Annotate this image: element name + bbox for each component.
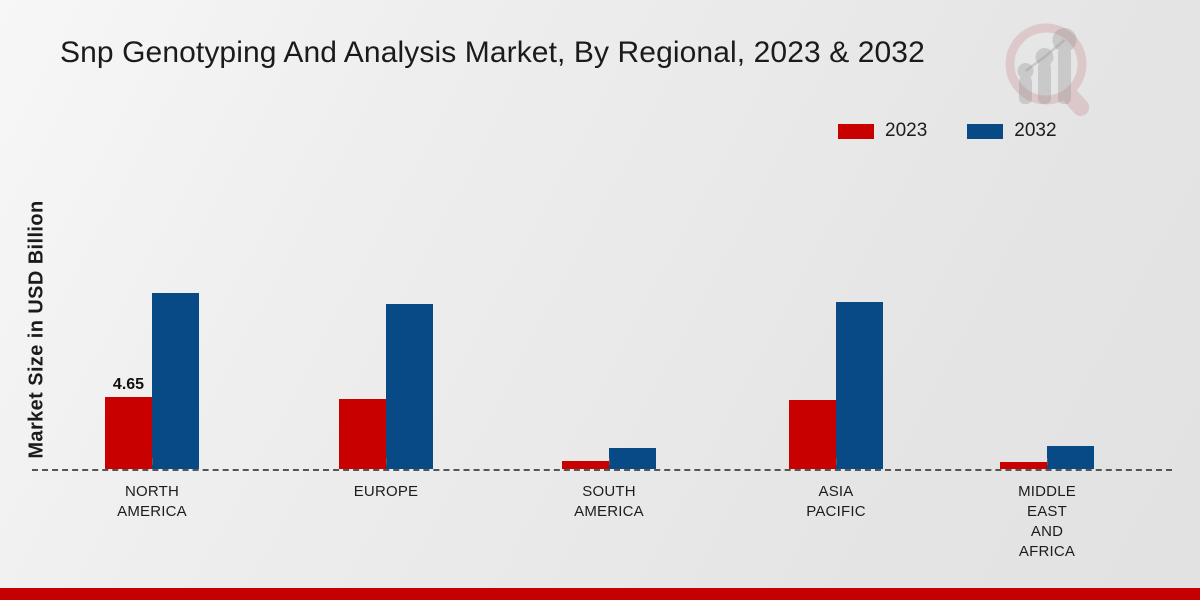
x-label-asia-pacific: ASIA PACIFIC [756, 482, 916, 522]
bar-pair: 4.65 [105, 149, 199, 469]
x-label-south-america: SOUTH AMERICA [529, 482, 689, 522]
x-label-line: PACIFIC [756, 502, 916, 522]
bar-2032-europe[interactable] [386, 304, 433, 469]
chart-title: Snp Genotyping And Analysis Market, By R… [60, 36, 1060, 70]
x-tick-middle-east-and-africa [1047, 458, 1048, 465]
x-label-line: EAST [967, 502, 1127, 522]
x-label-line: ASIA [756, 482, 916, 502]
bar-pair [789, 149, 883, 469]
x-tick-asia-pacific [836, 458, 837, 465]
legend-swatch-2032 [967, 124, 1003, 139]
x-axis-baseline [32, 469, 1172, 471]
x-tick-south-america [609, 458, 610, 465]
x-label-north-america: NORTH AMERICA [72, 482, 232, 522]
x-label-line: AFRICA [967, 542, 1127, 562]
bar-2032-south-america[interactable] [609, 448, 656, 469]
bar-2023-europe[interactable] [339, 399, 386, 469]
legend-label-2032: 2032 [1014, 120, 1056, 142]
x-label-line: NORTH [72, 482, 232, 502]
bar-value-2023-north-america: 4.65 [113, 376, 144, 394]
legend-swatch-2023 [838, 124, 874, 139]
x-label-line: AMERICA [529, 502, 689, 522]
bar-2032-north-america[interactable] [152, 293, 199, 469]
legend-label-2023: 2023 [885, 120, 927, 142]
bar-pair [339, 149, 433, 469]
legend-item-2023[interactable]: 2023 [838, 120, 927, 142]
x-tick-north-america [152, 458, 153, 465]
plot-area: 4.65 NORTH AMERICA EUROPE [0, 150, 1200, 480]
legend-item-2032[interactable]: 2032 [967, 120, 1056, 142]
x-label-line: EUROPE [306, 482, 466, 502]
bar-2032-middle-east-and-africa[interactable] [1047, 446, 1094, 469]
bar-pair [562, 149, 656, 469]
x-label-line: SOUTH [529, 482, 689, 502]
bottom-accent-strip [0, 588, 1200, 600]
chart-legend: 2023 2032 [838, 120, 1057, 142]
bar-2023-middle-east-and-africa[interactable] [1000, 462, 1047, 469]
bar-2023-north-america[interactable]: 4.65 [105, 397, 152, 469]
x-label-line: AND [967, 522, 1127, 542]
bar-pair [1000, 149, 1094, 469]
x-label-europe: EUROPE [306, 482, 466, 502]
x-tick-europe [386, 458, 387, 465]
bar-2023-asia-pacific[interactable] [789, 400, 836, 469]
x-label-middle-east-and-africa: MIDDLE EAST AND AFRICA [967, 482, 1127, 562]
chart-figure: Snp Genotyping And Analysis Market, By R… [0, 0, 1200, 600]
x-label-line: AMERICA [72, 502, 232, 522]
x-label-line: MIDDLE [967, 482, 1127, 502]
bar-2032-asia-pacific[interactable] [836, 302, 883, 469]
bar-2023-south-america[interactable] [562, 461, 609, 469]
